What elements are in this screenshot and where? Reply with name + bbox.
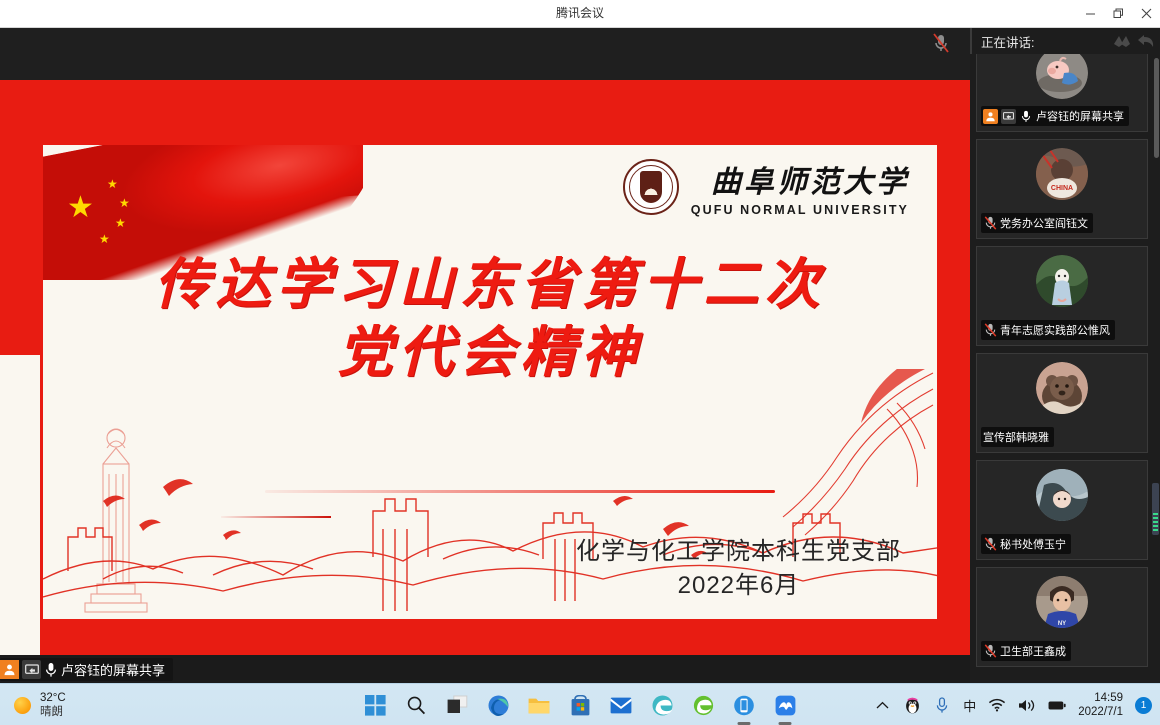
meeting-window: ★ ★ ★ ★ ★ 曲阜师范大学 QUFU <box>0 28 1160 683</box>
svg-text:CHINA: CHINA <box>1051 185 1073 192</box>
microphone-muted-icon <box>983 537 997 552</box>
participant-tile[interactable]: 卢容钰的屏幕共享 <box>976 54 1148 132</box>
chevron-up-icon[interactable] <box>873 696 891 714</box>
sidebar-actions <box>1111 28 1157 54</box>
sidebar-header: 正在讲话: <box>970 28 1160 54</box>
microphone-icon[interactable] <box>933 696 951 714</box>
participant-nameplate: 卢容钰的屏幕共享 <box>981 106 1129 126</box>
weather-condition: 晴朗 <box>40 705 66 719</box>
presenter-name: 卢容钰的屏幕共享 <box>61 660 165 679</box>
sun-icon <box>14 697 31 714</box>
participant-name: 宣传部韩晓雅 <box>983 429 1049 445</box>
flag-star-3: ★ <box>115 217 126 229</box>
wifi-icon[interactable] <box>988 696 1006 714</box>
presenter-bar: 卢容钰的屏幕共享 <box>0 655 970 683</box>
participant-name: 卫生部王鑫成 <box>1000 643 1066 659</box>
weather-widget[interactable]: 32°C 晴朗 <box>14 688 66 722</box>
participant-tile[interactable]: NY 卫生部王鑫成 <box>976 567 1148 667</box>
file-explorer-button[interactable] <box>527 693 551 717</box>
taskbar-app-icons <box>363 684 797 725</box>
participant-name: 秘书处傅玉宁 <box>1000 536 1066 552</box>
mail-button[interactable] <box>609 693 633 717</box>
clock-time: 14:59 <box>1078 691 1123 705</box>
avatar <box>1036 255 1088 307</box>
maximize-restore-button[interactable] <box>1104 0 1132 27</box>
window-title-bar: 腾讯会议 <box>0 0 1160 28</box>
svg-text:NY: NY <box>1058 621 1066 627</box>
minimize-button[interactable] <box>1076 0 1104 27</box>
participant-nameplate: 宣传部韩晓雅 <box>981 427 1054 447</box>
flag-star-2: ★ <box>119 197 130 209</box>
edge-legacy-button[interactable] <box>650 693 674 717</box>
clock-date: 2022/7/1 <box>1078 705 1123 719</box>
ime-indicator[interactable]: 中 <box>963 696 976 715</box>
participants-sidebar: 正在讲话: <box>970 28 1160 683</box>
screen-share-icon <box>1001 109 1016 124</box>
tencent-meeting-button[interactable] <box>773 693 797 717</box>
screen-share-icon <box>22 660 41 679</box>
slide-canvas: ★ ★ ★ ★ ★ 曲阜师范大学 QUFU <box>40 142 940 622</box>
avatar: NY <box>1036 576 1088 628</box>
participant-nameplate: 青年志愿实践部公惟风 <box>981 320 1115 340</box>
microphone-muted-icon <box>983 323 997 338</box>
shared-screen-mic-muted-icon <box>930 31 952 55</box>
sidebar-scrollbar[interactable] <box>1154 58 1159 158</box>
host-icon <box>983 109 998 124</box>
avatar: CHINA <box>1036 148 1088 200</box>
slide-subtitle-line2: 2022年6月 <box>576 569 901 603</box>
participant-name: 党务办公室阎钰文 <box>1000 215 1088 231</box>
presentation-slide: ★ ★ ★ ★ ★ 曲阜师范大学 QUFU <box>0 80 970 655</box>
qq-penguin-icon[interactable] <box>903 696 921 714</box>
weather-temperature: 32°C <box>40 691 66 705</box>
flag-star-4: ★ <box>99 233 110 245</box>
university-logo: 曲阜师范大学 QUFU NORMAL UNIVERSITY <box>623 157 909 217</box>
phone-link-button[interactable] <box>732 693 756 717</box>
edge-button[interactable] <box>486 693 510 717</box>
audio-level-indicator <box>1152 483 1159 535</box>
volume-icon[interactable] <box>1018 696 1036 714</box>
host-icon <box>0 660 19 679</box>
participant-nameplate: 党务办公室阎钰文 <box>981 213 1093 233</box>
participant-tile[interactable]: CHINA 党务办公室阎钰文 <box>976 139 1148 239</box>
flag-star-1: ★ <box>107 178 118 190</box>
participant-tile[interactable]: 秘书处傅玉宁 <box>976 460 1148 560</box>
system-tray: 中 <box>873 684 1152 725</box>
taskbar: 32°C 晴朗 <box>0 683 1160 725</box>
clock[interactable]: 14:59 2022/7/1 <box>1078 691 1123 719</box>
battery-icon[interactable] <box>1048 696 1066 714</box>
back-arrow-icon[interactable] <box>1135 30 1157 52</box>
close-button[interactable] <box>1132 0 1160 27</box>
participant-tile[interactable]: 青年志愿实践部公惟风 <box>976 246 1148 346</box>
slide-title-line1: 传达学习山东省第十二次 <box>43 250 937 318</box>
avatar <box>1036 54 1088 99</box>
collapse-icon[interactable] <box>1111 30 1133 52</box>
task-view-button[interactable] <box>445 693 469 717</box>
microphone-muted-icon <box>983 644 997 659</box>
shared-screen-area[interactable]: ★ ★ ★ ★ ★ 曲阜师范大学 QUFU <box>0 28 970 683</box>
participant-name: 卢容钰的屏幕共享 <box>1036 108 1124 124</box>
slide-title: 传达学习山东省第十二次 党代会精神 <box>43 250 937 386</box>
university-name-cn: 曲阜师范大学 <box>691 157 909 201</box>
start-button[interactable] <box>363 693 387 717</box>
participant-nameplate: 秘书处傅玉宁 <box>981 534 1071 554</box>
microphone-icon <box>44 662 58 677</box>
speaking-now-label: 正在讲话: <box>981 32 1034 51</box>
slide-subtitle-line1: 化学与化工学院本科生党支部 <box>576 535 901 569</box>
notification-badge[interactable]: 1 <box>1135 697 1152 714</box>
screen: 腾讯会议 <box>0 0 1160 725</box>
participant-tile[interactable]: 宣传部韩晓雅 <box>976 353 1148 453</box>
window-controls <box>1076 0 1160 27</box>
university-name-en: QUFU NORMAL UNIVERSITY <box>691 203 909 217</box>
slide-subtitle: 化学与化工学院本科生党支部 2022年6月 <box>576 535 901 603</box>
presenter-nameplate: 卢容钰的屏幕共享 <box>0 658 173 681</box>
participant-nameplate: 卫生部王鑫成 <box>981 641 1071 661</box>
microsoft-store-button[interactable] <box>568 693 592 717</box>
internet-explorer-button[interactable] <box>691 693 715 717</box>
university-emblem-icon <box>623 159 679 215</box>
avatar <box>1036 362 1088 414</box>
microphone-muted-icon <box>983 216 997 231</box>
microphone-icon <box>1019 109 1033 124</box>
participant-list[interactable]: 卢容钰的屏幕共享 CHINA <box>970 54 1160 683</box>
flag-star-large: ★ <box>67 193 94 223</box>
slide-title-line2: 党代会精神 <box>43 318 937 386</box>
window-title: 腾讯会议 <box>0 0 1160 27</box>
avatar <box>1036 469 1088 521</box>
ribbon-illustration <box>737 369 937 559</box>
search-button[interactable] <box>404 693 428 717</box>
participant-name: 青年志愿实践部公惟风 <box>1000 322 1110 338</box>
